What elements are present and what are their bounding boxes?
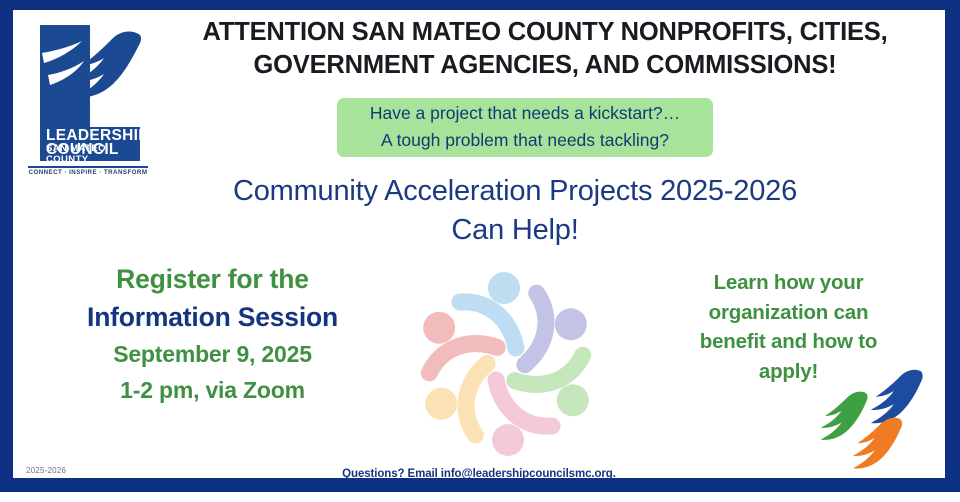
callout-line-2: A tough problem that needs tackling? [337, 127, 713, 154]
border-bottom-gap [0, 492, 960, 502]
register-line-2: Information Session [35, 298, 390, 336]
people-pinwheel-icon [408, 268, 604, 460]
green-swallow-icon [821, 392, 868, 440]
learn-line-1: Learn how your [672, 268, 905, 298]
pinwheel-figure-upper-left [408, 306, 499, 396]
headline-line-1: ATTENTION SAN MATEO COUNTY NONPROFITS, C… [150, 16, 940, 49]
page-title: Community Acceleration Projects 2025-202… [150, 172, 880, 250]
headline: ATTENTION SAN MATEO COUNTY NONPROFITS, C… [150, 16, 940, 82]
learn-line-3: benefit and how to [672, 327, 905, 357]
year-mark: 2025-2026 [26, 466, 66, 475]
border-left [0, 0, 13, 502]
three-swallows-icon [812, 368, 945, 476]
pinwheel-figure-lower-right [513, 332, 604, 422]
blue-swallow-icon [871, 370, 923, 423]
headline-line-2: GOVERNMENT AGENCIES, AND COMMISSIONS! [150, 49, 940, 82]
callout-text: Have a project that needs a kickstart?… … [337, 100, 713, 154]
callout-line-1: Have a project that needs a kickstart?… [337, 100, 713, 127]
logo-divider [28, 166, 148, 168]
border-top [0, 0, 960, 10]
border-bottom [0, 478, 960, 492]
register-time: 1-2 pm, via Zoom [35, 372, 390, 408]
register-line-1: Register for the [35, 260, 390, 298]
flyer-canvas: LEADERSHIP COUNCIL SAN MATEO COUNTY CONN… [0, 0, 960, 502]
logo-line3: SAN MATEO COUNTY [46, 143, 148, 165]
border-right [945, 0, 960, 502]
main-title-line-2: Can Help! [150, 211, 880, 250]
main-title-line-1: Community Acceleration Projects 2025-202… [150, 172, 880, 211]
leadership-council-logo: LEADERSHIP COUNCIL [28, 23, 148, 163]
register-block: Register for the Information Session Sep… [35, 260, 390, 408]
register-date: September 9, 2025 [35, 336, 390, 372]
learn-line-2: organization can [672, 298, 905, 328]
orange-swallow-icon [853, 418, 902, 469]
footer-contact: Questions? Email info@leadershipcouncils… [13, 468, 945, 480]
logo-tagline: CONNECT · INSPIRE · TRANSFORM [28, 169, 148, 176]
